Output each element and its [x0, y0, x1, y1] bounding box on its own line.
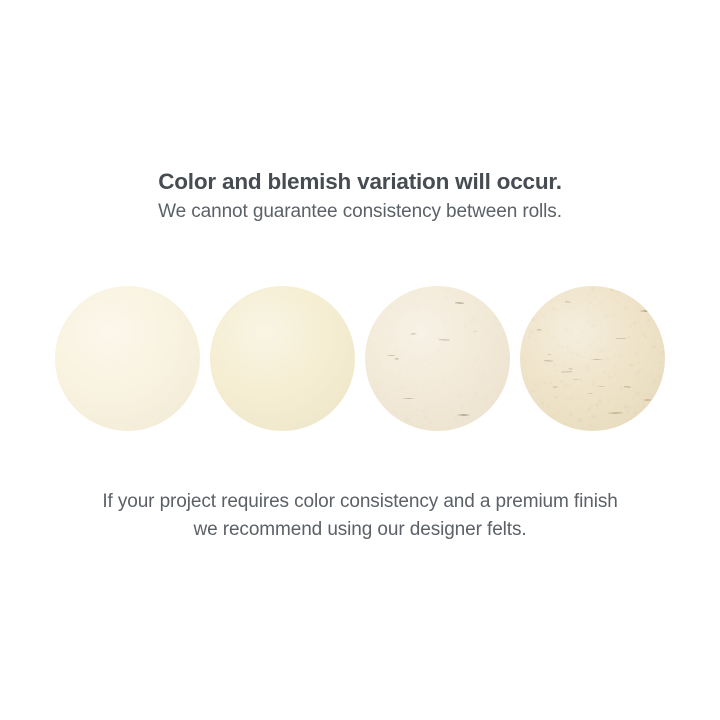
color-swatch-3	[365, 286, 510, 431]
swatch-sheen-2	[210, 286, 355, 431]
heading-block: Color and blemish variation will occur. …	[0, 168, 720, 225]
swatch-sheen-1	[55, 286, 200, 431]
color-swatch-1	[55, 286, 200, 431]
felt-color-variation-panel: Color and blemish variation will occur. …	[0, 0, 720, 720]
footer-block: If your project requires color consisten…	[0, 488, 720, 543]
footer-line-1: If your project requires color consisten…	[0, 488, 720, 516]
color-swatch-4	[520, 286, 665, 431]
footer-line-2: we recommend using our designer felts.	[0, 516, 720, 544]
page-subtitle: We cannot guarantee consistency between …	[0, 200, 720, 225]
color-swatch-2	[210, 286, 355, 431]
page-title: Color and blemish variation will occur.	[0, 168, 720, 196]
color-swatch-row	[55, 285, 665, 431]
swatch-sheen-3	[365, 286, 510, 431]
swatch-sheen-4	[520, 286, 665, 431]
